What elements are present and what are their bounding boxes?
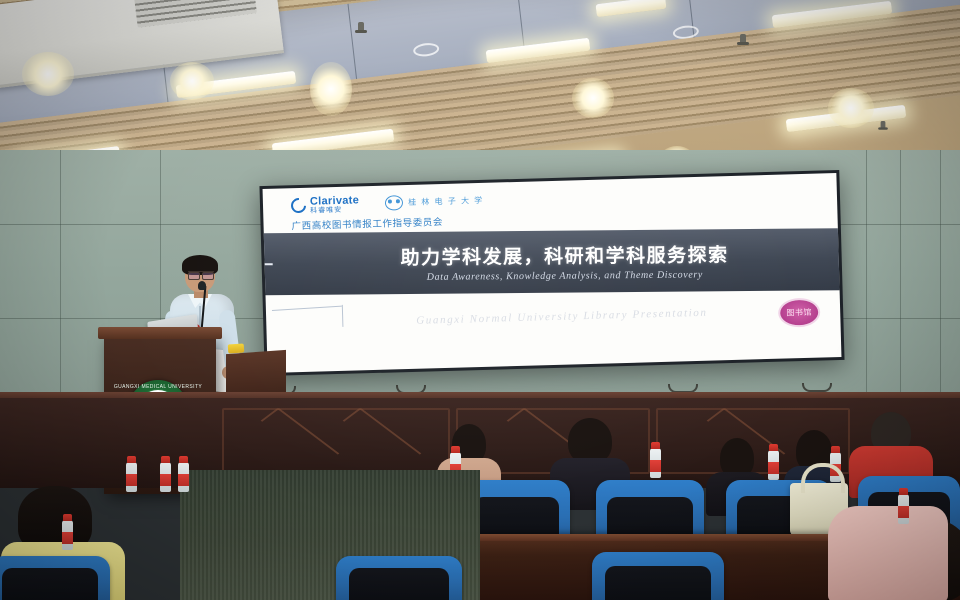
ceiling-downlight bbox=[22, 52, 74, 96]
water-bottle bbox=[160, 462, 171, 492]
ceiling-downlight bbox=[310, 62, 352, 116]
wall-hook-icon bbox=[802, 383, 832, 392]
slide-title: 助力学科发展，科研和学科服务探索 bbox=[401, 240, 729, 270]
sprinkler-head-icon bbox=[358, 22, 364, 32]
partner-university-logo: 桂 林 电 子 大 学 bbox=[385, 193, 484, 211]
slide-title-band: 助力学科发展，科研和学科服务探索 Data Awareness, Knowled… bbox=[263, 228, 842, 296]
water-bottle bbox=[768, 450, 779, 480]
presentation-slide: Clarivate 科睿唯安 桂 林 电 子 大 学 广西高校图书情报工作指导委… bbox=[263, 173, 842, 373]
ceiling-downlight bbox=[828, 88, 874, 128]
slide-subtitle: Data Awareness, Knowledge Analysis, and … bbox=[427, 269, 703, 282]
yellow-object-on-table bbox=[228, 343, 245, 353]
attendee-body bbox=[828, 506, 948, 600]
clarivate-logo-icon bbox=[288, 195, 309, 216]
handbag-handle bbox=[801, 463, 845, 493]
desk-inset-panel bbox=[222, 408, 450, 474]
audience-chair bbox=[592, 552, 724, 600]
clarivate-name-en: Clarivate bbox=[310, 195, 359, 207]
microphone-icon bbox=[198, 281, 206, 290]
projection-screen: Clarivate 科睿唯安 桂 林 电 子 大 学 广西高校图书情报工作指导委… bbox=[259, 170, 844, 376]
slide-decoration-line bbox=[272, 306, 342, 311]
sprinkler-head-icon bbox=[881, 121, 886, 129]
water-bottle bbox=[898, 494, 909, 524]
audience-chair bbox=[0, 556, 110, 600]
sprinkler-head-icon bbox=[740, 34, 746, 44]
ceiling-downlight bbox=[170, 62, 214, 100]
water-bottle bbox=[62, 520, 73, 550]
ceiling-vent-ring-icon bbox=[413, 42, 440, 58]
library-seal-icon: 图书馆 bbox=[780, 300, 819, 326]
library-seal-label: 图书馆 bbox=[786, 307, 812, 319]
title-dash-decoration bbox=[263, 263, 273, 265]
water-bottle bbox=[126, 462, 137, 492]
clarivate-logo: Clarivate 科睿唯安 bbox=[291, 195, 360, 215]
university-emblem-icon bbox=[385, 195, 403, 210]
ceiling-downlight bbox=[572, 78, 614, 118]
slide-decoration-line bbox=[342, 305, 344, 327]
clarivate-name-cn: 科睿唯安 bbox=[310, 206, 359, 214]
partner-name-cn: 桂 林 电 子 大 学 bbox=[408, 195, 484, 208]
audience-chair bbox=[336, 556, 462, 600]
water-bottle bbox=[178, 462, 189, 492]
eyeglasses-icon bbox=[188, 271, 214, 278]
podium-top-surface bbox=[98, 327, 222, 339]
conference-photo-scene: Clarivate 科睿唯安 桂 林 电 子 大 学 广西高校图书情报工作指导委… bbox=[0, 0, 960, 600]
slide-footer-text: Guangxi Normal University Library Presen… bbox=[416, 307, 708, 327]
water-bottle bbox=[650, 448, 661, 478]
ac-vent-icon bbox=[134, 0, 257, 28]
